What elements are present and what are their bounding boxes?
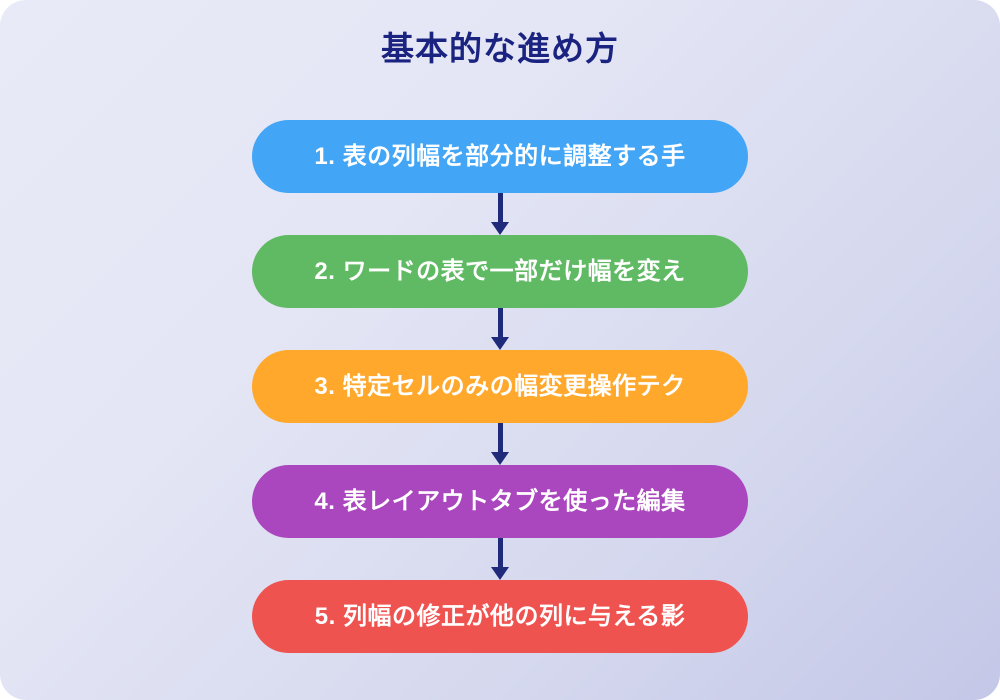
step-label: 4. 表レイアウトタブを使った編集	[314, 487, 685, 517]
flow-step-2[interactable]: 2. ワードの表で一部だけ幅を変え	[252, 235, 748, 308]
arrow-head	[491, 337, 509, 350]
page-title: 基本的な進め方	[0, 27, 1000, 71]
arrow-shaft	[498, 538, 503, 569]
flow-step-3[interactable]: 3. 特定セルのみの幅変更操作テク	[252, 350, 748, 423]
arrow-down-icon	[252, 308, 748, 350]
flow-step-4[interactable]: 4. 表レイアウトタブを使った編集	[252, 465, 748, 538]
arrow-down-icon	[252, 538, 748, 580]
arrow-down-icon	[252, 423, 748, 465]
flow-step-5[interactable]: 5. 列幅の修正が他の列に与える影	[252, 580, 748, 653]
flow-step-list: 1. 表の列幅を部分的に調整する手2. ワードの表で一部だけ幅を変え3. 特定セ…	[252, 120, 748, 653]
flowchart-canvas: 基本的な進め方 1. 表の列幅を部分的に調整する手2. ワードの表で一部だけ幅を…	[0, 0, 1000, 700]
step-label: 2. ワードの表で一部だけ幅を変え	[314, 257, 685, 287]
arrow-shaft	[498, 423, 503, 454]
step-box[interactable]: 5. 列幅の修正が他の列に与える影	[252, 580, 748, 653]
step-label: 3. 特定セルのみの幅変更操作テク	[314, 372, 685, 402]
arrow-down-icon	[252, 193, 748, 235]
step-box[interactable]: 4. 表レイアウトタブを使った編集	[252, 465, 748, 538]
arrow-head	[491, 222, 509, 235]
arrow-shaft	[498, 193, 503, 224]
step-box[interactable]: 2. ワードの表で一部だけ幅を変え	[252, 235, 748, 308]
flow-step-1[interactable]: 1. 表の列幅を部分的に調整する手	[252, 120, 748, 193]
arrow-shaft	[498, 308, 503, 339]
step-box[interactable]: 1. 表の列幅を部分的に調整する手	[252, 120, 748, 193]
arrow-head	[491, 452, 509, 465]
step-label: 1. 表の列幅を部分的に調整する手	[314, 142, 685, 172]
arrow-head	[491, 567, 509, 580]
step-label: 5. 列幅の修正が他の列に与える影	[315, 602, 685, 632]
step-box[interactable]: 3. 特定セルのみの幅変更操作テク	[252, 350, 748, 423]
